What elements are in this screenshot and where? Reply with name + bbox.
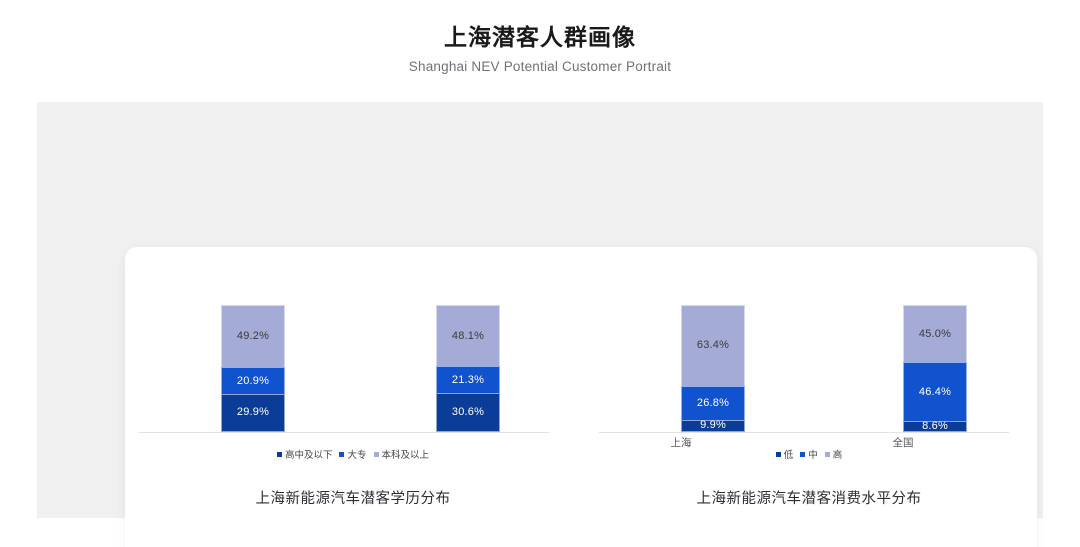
- legend-label: 低: [784, 447, 794, 461]
- legend-swatch-icon: [825, 452, 830, 457]
- bar-segment[interactable]: 9.9%: [681, 420, 745, 433]
- chart-2-axis-line: [599, 432, 1009, 433]
- bar-segment-value: 9.9%: [700, 420, 726, 431]
- chart-2-legend: 低中高: [581, 447, 1037, 461]
- stacked-bar[interactable]: 48.1%21.3%30.6%: [436, 305, 500, 432]
- bar-segment-value: 21.3%: [452, 375, 484, 386]
- chart-2-caption: 上海新能源汽车潜客消费水平分布: [581, 487, 1037, 508]
- chart-education-distribution: 49.2%20.9%29.9% 48.1%21.3%30.6% 高中及以下大专本…: [125, 247, 581, 547]
- legend-item[interactable]: 中: [800, 447, 818, 461]
- bar-segment-value: 29.9%: [237, 407, 269, 418]
- bar-segment[interactable]: 30.6%: [436, 393, 500, 432]
- heading-group: 上海潜客人群画像 Shanghai NEV Potential Customer…: [0, 22, 1080, 77]
- bar-segment[interactable]: 49.2%: [221, 305, 285, 367]
- legend-label: 中: [808, 447, 818, 461]
- page-subtitle: Shanghai NEV Potential Customer Portrait: [0, 57, 1080, 77]
- legend-label: 高中及以下: [285, 447, 333, 461]
- bar-segment[interactable]: 8.6%: [903, 421, 967, 432]
- charts-card: 49.2%20.9%29.9% 48.1%21.3%30.6% 高中及以下大专本…: [125, 247, 1037, 547]
- bar-segment-value: 8.6%: [922, 421, 948, 432]
- content-panel: 49.2%20.9%29.9% 48.1%21.3%30.6% 高中及以下大专本…: [37, 102, 1043, 518]
- legend-label: 大专: [347, 447, 366, 461]
- bar-segment-value: 46.4%: [919, 387, 951, 398]
- bar-segment-value: 26.8%: [697, 398, 729, 409]
- bar-segment[interactable]: 46.4%: [903, 362, 967, 421]
- legend-item[interactable]: 本科及以上: [374, 447, 430, 461]
- legend-label: 高: [833, 447, 843, 461]
- bar-segment[interactable]: 29.9%: [221, 394, 285, 432]
- bar-segment-value: 45.0%: [919, 329, 951, 340]
- bar-segment-value: 63.4%: [697, 340, 729, 351]
- chart-1-legend: 高中及以下大专本科及以上: [125, 447, 581, 461]
- bar-segment[interactable]: 20.9%: [221, 367, 285, 394]
- stacked-bar[interactable]: 49.2%20.9%29.9%: [221, 305, 285, 432]
- chart-consumption-level-distribution: 63.4%26.8%9.9% 45.0%46.4%8.6% 上海全国 低中高 上…: [581, 247, 1037, 547]
- legend-swatch-icon: [776, 452, 781, 457]
- legend-swatch-icon: [374, 452, 379, 457]
- bar-segment-value: 30.6%: [452, 407, 484, 418]
- chart-2-plot: 63.4%26.8%9.9% 45.0%46.4%8.6%: [581, 247, 1037, 432]
- bar-segment[interactable]: 21.3%: [436, 366, 500, 393]
- stacked-bar[interactable]: 63.4%26.8%9.9%: [681, 305, 745, 432]
- legend-swatch-icon: [277, 452, 282, 457]
- bar-segment[interactable]: 48.1%: [436, 305, 500, 366]
- bar-segment-value: 48.1%: [452, 331, 484, 342]
- chart-1-plot: 49.2%20.9%29.9% 48.1%21.3%30.6%: [125, 247, 581, 432]
- chart-1-caption: 上海新能源汽车潜客学历分布: [125, 487, 581, 508]
- legend-swatch-icon: [800, 452, 805, 457]
- charts-container: 49.2%20.9%29.9% 48.1%21.3%30.6% 高中及以下大专本…: [125, 247, 1037, 547]
- legend-item[interactable]: 高: [825, 447, 843, 461]
- chart-1-axis-line: [139, 432, 549, 433]
- bar-segment[interactable]: 26.8%: [681, 386, 745, 420]
- stacked-bar[interactable]: 45.0%46.4%8.6%: [903, 305, 967, 432]
- page-title: 上海潜客人群画像: [0, 22, 1080, 52]
- bar-segment[interactable]: 45.0%: [903, 305, 967, 362]
- slide-canvas: 上海潜客人群画像 Shanghai NEV Potential Customer…: [0, 0, 1080, 547]
- bar-segment-value: 49.2%: [237, 331, 269, 342]
- bar-segment-value: 20.9%: [237, 376, 269, 387]
- legend-item[interactable]: 低: [776, 447, 794, 461]
- legend-item[interactable]: 高中及以下: [277, 447, 333, 461]
- bar-segment[interactable]: 63.4%: [681, 305, 745, 386]
- legend-item[interactable]: 大专: [339, 447, 366, 461]
- legend-swatch-icon: [339, 452, 344, 457]
- legend-label: 本科及以上: [382, 447, 430, 461]
